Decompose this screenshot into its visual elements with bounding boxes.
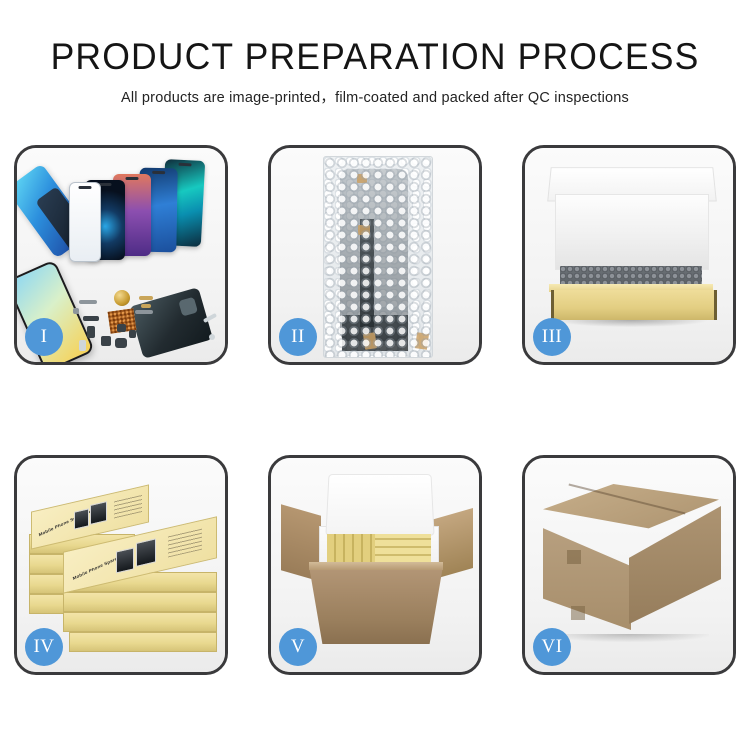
step-badge-4: IV — [25, 628, 63, 666]
stacked-box — [63, 592, 217, 612]
notch-icon — [126, 177, 139, 180]
process-step-panel-4: Mobile Phone Spare Parts Mobile Phone Sp… — [14, 455, 228, 675]
spare-part — [129, 330, 136, 338]
process-step-panel-3: III — [522, 145, 736, 365]
carton-left-face — [543, 518, 631, 630]
process-step-grid: I II — [14, 145, 736, 675]
process-step-panel-2: II — [268, 145, 482, 365]
box-art-screen — [90, 501, 107, 525]
step-badge-3: III — [533, 318, 571, 356]
box-art-screen — [74, 508, 89, 529]
tape-piece — [363, 332, 377, 350]
process-step-panel-5: V — [268, 455, 482, 675]
panel-2-image: II — [271, 148, 479, 362]
tape-piece — [358, 225, 370, 235]
stacked-box — [69, 632, 217, 652]
bubble-wrap-sleeve — [323, 156, 433, 358]
yellow-box-front — [551, 290, 717, 320]
foam-backing — [555, 194, 709, 270]
spare-part — [141, 304, 151, 308]
notch-icon — [178, 163, 191, 167]
panel-5-image: V — [271, 458, 479, 672]
panel-3-image: III — [525, 148, 733, 362]
drop-shadow — [549, 634, 709, 642]
page-header: PRODUCT PREPARATION PROCESS All products… — [0, 38, 750, 107]
spare-part — [117, 324, 126, 332]
spare-part — [87, 326, 95, 338]
carton-tape-patch — [571, 606, 585, 620]
spare-part — [73, 308, 79, 314]
spare-part — [79, 300, 97, 304]
page-subtitle: All products are image-printed，film-coat… — [0, 86, 750, 107]
drop-shadow — [555, 320, 707, 327]
spare-part — [79, 340, 86, 351]
box-art-screen — [116, 547, 134, 573]
box-art-screen — [136, 538, 156, 567]
product-preparation-process-page: PRODUCT PREPARATION PROCESS All products… — [0, 0, 750, 750]
tape-piece — [357, 174, 367, 183]
panel-4-image: Mobile Phone Spare Parts Mobile Phone Sp… — [17, 458, 225, 672]
spare-part — [209, 334, 215, 340]
page-title: PRODUCT PREPARATION PROCESS — [15, 38, 735, 77]
speaker-part — [114, 290, 130, 306]
spare-part — [83, 316, 99, 321]
process-step-panel-6: VI — [522, 455, 736, 675]
front-glass-panel — [69, 182, 101, 262]
flex-cable — [360, 219, 374, 327]
box-spec-lines — [114, 494, 142, 518]
spare-part — [115, 338, 127, 348]
step-badge-2: II — [279, 318, 317, 356]
panel-1-image: I — [17, 148, 225, 362]
process-step-panel-1: I — [14, 145, 228, 365]
stacked-box — [63, 612, 217, 632]
panel-6-image: VI — [525, 458, 733, 672]
spare-part — [135, 310, 153, 314]
foam-box-lid — [325, 474, 434, 536]
spare-part — [101, 336, 111, 346]
carton-tape-patch — [567, 550, 581, 564]
box-stack: Mobile Phone Spare Parts Mobile Phone Sp… — [27, 476, 223, 656]
carton-top-lip — [309, 562, 443, 570]
notch-icon — [79, 186, 92, 189]
spare-part — [139, 296, 153, 300]
box-spec-lines — [168, 528, 202, 558]
tape-piece — [415, 332, 429, 350]
shipping-carton-body — [309, 566, 443, 644]
step-badge-1: I — [25, 318, 63, 356]
step-badge-5: V — [279, 628, 317, 666]
notch-icon — [152, 171, 165, 174]
step-badge-6: VI — [533, 628, 571, 666]
